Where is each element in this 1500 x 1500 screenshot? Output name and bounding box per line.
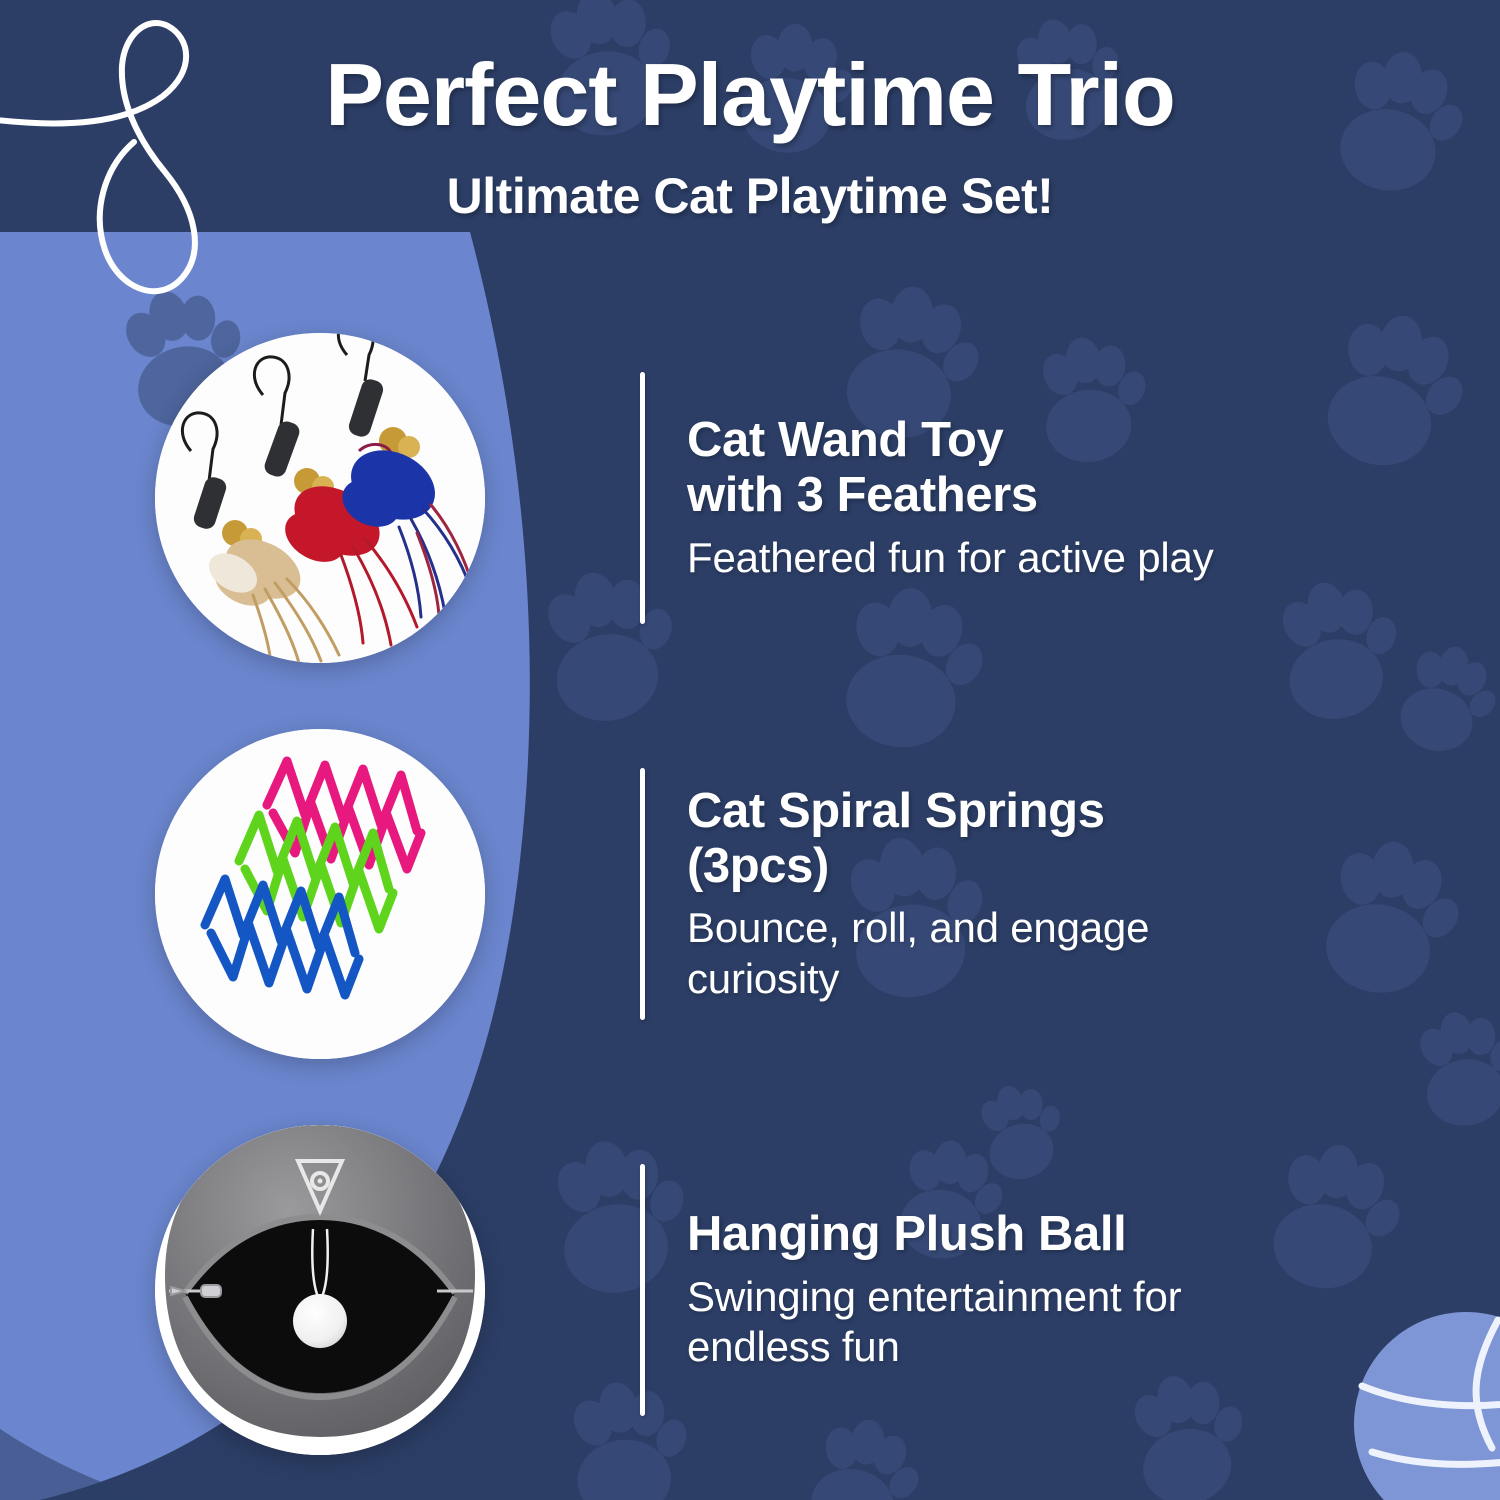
feature-thumbnail-wrap [0, 333, 640, 663]
feature-thumbnail-wrap [0, 729, 640, 1059]
feature-row: Cat Spiral Springs (3pcs) Bounce, roll, … [0, 696, 1500, 1092]
feature-text: Hanging Plush Ball Swinging entertainmen… [645, 1207, 1181, 1373]
feature-title: Cat Wand Toy with 3 Feathers [687, 413, 1214, 523]
page-subtitle: Ultimate Cat Playtime Set! [0, 167, 1500, 225]
feature-list: Cat Wand Toy with 3 Feathers Feathered f… [0, 300, 1500, 1488]
feature-description: Swinging entertainment for endless fun [687, 1272, 1181, 1373]
feature-text: Cat Wand Toy with 3 Feathers Feathered f… [645, 413, 1214, 583]
feature-title: Hanging Plush Ball [687, 1207, 1181, 1262]
feature-description: Feathered fun for active play [687, 533, 1214, 583]
feature-text: Cat Spiral Springs (3pcs) Bounce, roll, … [645, 784, 1149, 1005]
cat-wand-toy-feathers-photo [155, 333, 485, 663]
page-title: Perfect Playtime Trio [0, 48, 1500, 141]
product-infographic-poster: Perfect Playtime Trio Ultimate Cat Playt… [0, 0, 1500, 1500]
feature-description: Bounce, roll, and engage curiosity [687, 903, 1149, 1004]
hanging-plush-ball-tunnel-photo [155, 1125, 485, 1455]
cat-spiral-springs-photo [155, 729, 485, 1059]
poster-header: Perfect Playtime Trio Ultimate Cat Playt… [0, 0, 1500, 225]
feature-title: Cat Spiral Springs (3pcs) [687, 784, 1149, 894]
feature-thumbnail-wrap [0, 1125, 640, 1455]
feature-row: Cat Wand Toy with 3 Feathers Feathered f… [0, 300, 1500, 696]
feature-row: Hanging Plush Ball Swinging entertainmen… [0, 1092, 1500, 1488]
